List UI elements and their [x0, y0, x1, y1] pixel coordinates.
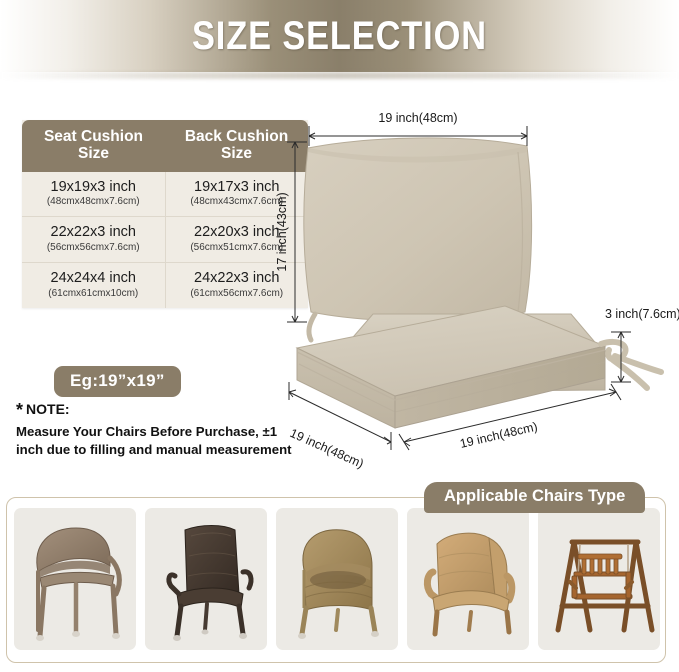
note-star-icon: * [16, 400, 23, 420]
chair-card-dark-wicker-dining-armchair[interactable] [145, 508, 267, 650]
chair-card-wooden-porch-swing[interactable] [538, 508, 660, 650]
back-height-label: 17 inch(43cm) [275, 192, 289, 271]
seat-thickness-label: 3 inch(7.6cm) [605, 307, 679, 321]
seat-size-inch: 24x24x4 inch [25, 270, 162, 287]
note-body: Measure Your Chairs Before Purchase, ±1 … [16, 423, 296, 459]
seat-size-cm: (61cmx61cmx10cm) [25, 287, 162, 300]
table-header-row: Seat Cushion Size Back Cushion Size [22, 120, 308, 172]
chair-card-barrel-wicker-tub-chair[interactable] [276, 508, 398, 650]
banner-shadow [0, 72, 679, 79]
size-table: Seat Cushion Size Back Cushion Size 19x1… [22, 120, 308, 308]
table-row: 19x19x3 inch (48cmx48cmx7.6cm) 19x17x3 i… [22, 172, 308, 217]
column-header-seat-line2: Size [26, 145, 161, 162]
back-cushion-illustration [304, 138, 532, 321]
page-banner: SIZE SELECTION [0, 0, 679, 72]
column-header-seat-cushion: Seat Cushion Size [22, 120, 165, 172]
back-width-label: 19 inch(48cm) [378, 111, 457, 125]
barrel-wicker-tub-chair-icon [278, 510, 396, 648]
cushion-diagram: 19 inch(48cm) 17 inch(43cm) [275, 100, 679, 480]
seat-depth-label: 19 inch(48cm) [459, 419, 539, 450]
note-heading-label: NOTE: [26, 401, 70, 417]
table-row: 22x22x3 inch (56cmx56cmx7.6cm) 22x20x3 i… [22, 217, 308, 263]
page-title: SIZE SELECTION [192, 14, 487, 59]
seat-size-cm: (56cmx56cmx7.6cm) [25, 241, 162, 254]
seat-size-inch: 22x22x3 inch [25, 224, 162, 241]
round-back-wicker-stacking-chair-icon [16, 510, 134, 648]
wooden-porch-swing-icon [540, 510, 658, 648]
seat-size-cell: 19x19x3 inch (48cmx48cmx7.6cm) [22, 172, 165, 217]
applicable-chairs-tab: Applicable Chairs Type [424, 482, 645, 513]
note-block: *NOTE: Measure Your Chairs Before Purcha… [16, 400, 296, 459]
column-header-seat-line1: Seat Cushion [26, 128, 161, 145]
table-row: 24x24x4 inch (61cmx61cmx10cm) 24x22x3 in… [22, 263, 308, 308]
note-heading: *NOTE: [16, 400, 296, 421]
chair-card-round-back-wicker-stacking-chair[interactable] [14, 508, 136, 650]
seat-tie [601, 342, 661, 388]
chair-thumbnail-row [14, 508, 660, 654]
seat-size-inch: 19x19x3 inch [25, 179, 162, 196]
seat-size-cell: 24x24x4 inch (61cmx61cmx10cm) [22, 263, 165, 308]
example-size-badge: Eg:19”x19” [54, 366, 181, 397]
chair-card-natural-rattan-armchair[interactable] [407, 508, 529, 650]
seat-size-cell: 22x22x3 inch (56cmx56cmx7.6cm) [22, 217, 165, 263]
seat-cushion-illustration [297, 306, 605, 428]
seat-front-label: 19 inch(48cm) [288, 426, 366, 471]
seat-size-cm: (48cmx48cmx7.6cm) [25, 195, 162, 208]
natural-rattan-armchair-icon [409, 510, 527, 648]
dark-wicker-dining-armchair-icon [147, 510, 265, 648]
